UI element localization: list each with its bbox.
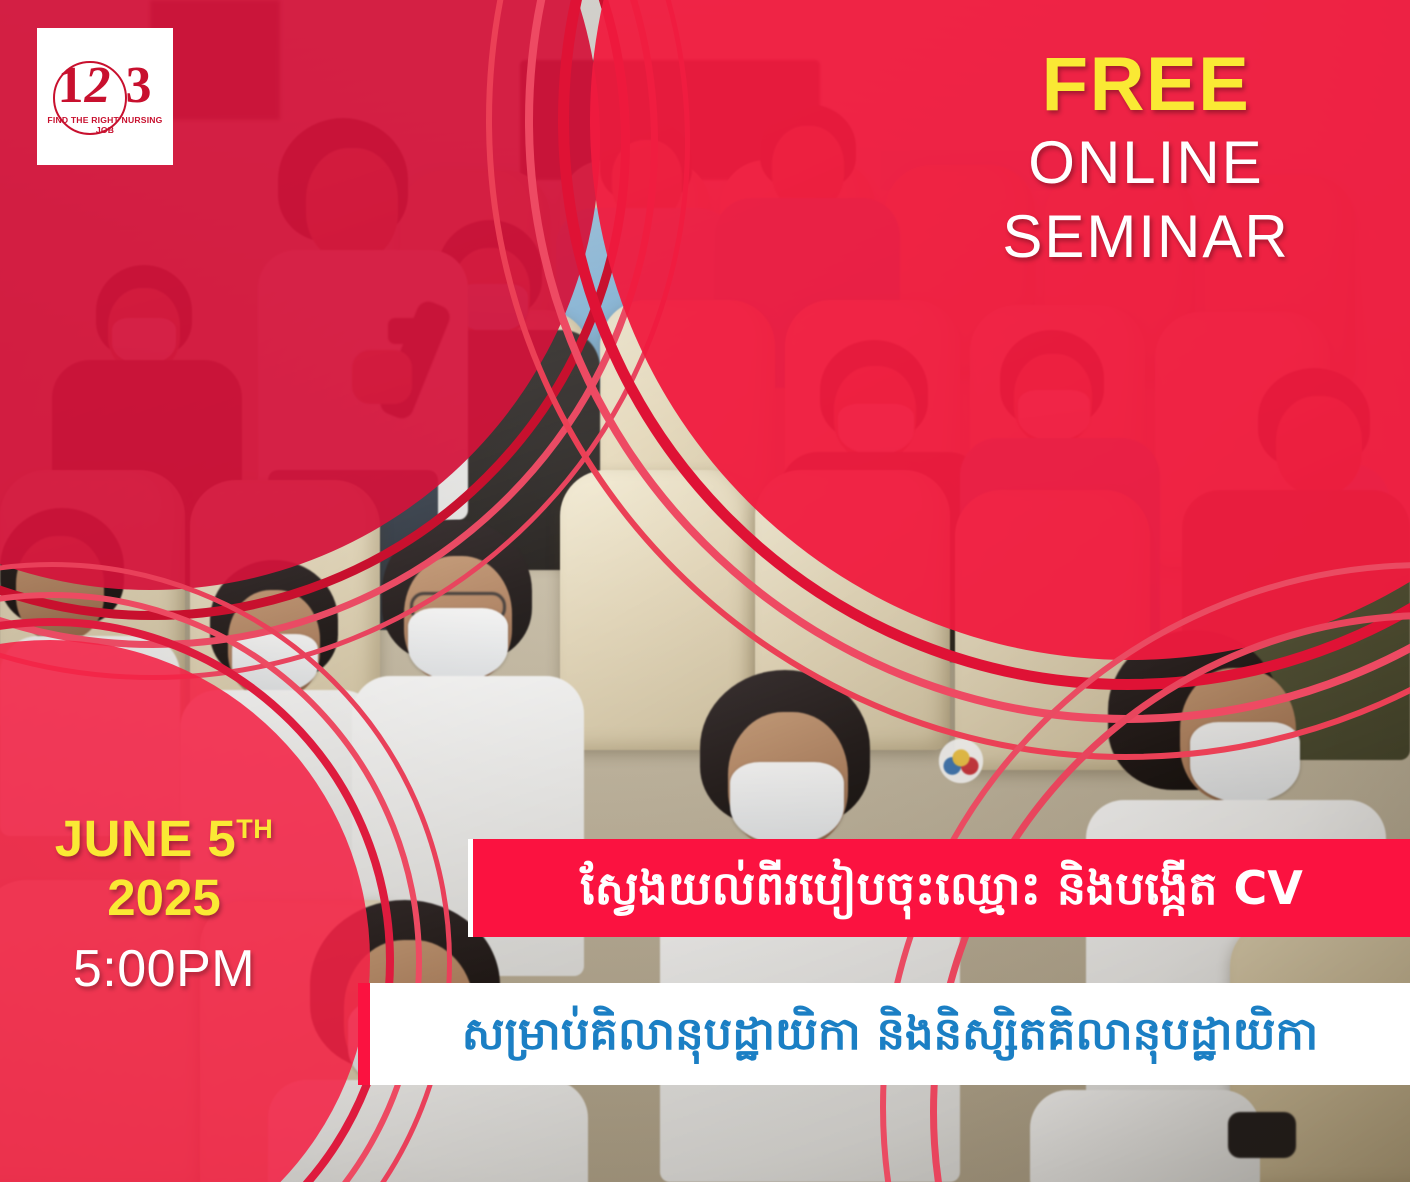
free-label: FREE (946, 44, 1346, 126)
brand-logo[interactable]: 12 3 FIND THE RIGHT NURSING JOB (37, 28, 173, 165)
logo-inner: 12 3 FIND THE RIGHT NURSING JOB (43, 49, 167, 145)
logo-tagline: FIND THE RIGHT NURSING JOB (43, 115, 167, 135)
date-time: 5:00PM (28, 940, 300, 998)
subline-khmer-text: សម្រាប់គិលានុបដ្ឋាយិកា និងនិស្សិតគិលានុប… (462, 983, 1319, 1085)
subline-banner-wrapper: សម្រាប់គិលានុបដ្ឋាយិកា និងនិស្សិតគិលានុប… (358, 983, 1410, 1085)
logo-digits: 12 3 (43, 55, 167, 117)
date-year: 2025 (28, 868, 300, 928)
seminar-headline-block: FREE ONLINE SEMINAR (946, 44, 1346, 274)
date-month-day-text: JUNE 5 (55, 810, 237, 867)
date-badge: JUNE 5TH 2025 5:00PM (28, 800, 300, 998)
date-month-day: JUNE 5TH (28, 800, 300, 868)
logo-digit-1: 1 (58, 57, 85, 114)
headline-khmer-text: ស្វែងយល់ពីរបៀបចុះឈ្មោះ និងបង្កើត CV (580, 839, 1303, 937)
logo-digit-2: 2 (85, 57, 112, 114)
headline-banner: ស្វែងយល់ពីរបៀបចុះឈ្មោះ និងបង្កើត CV (473, 839, 1410, 937)
logo-digit-3: 3 (126, 57, 153, 114)
seminar-poster: 12 3 FIND THE RIGHT NURSING JOB FREE ONL… (0, 0, 1410, 1182)
online-label: ONLINE (946, 126, 1346, 200)
seminar-label: SEMINAR (946, 200, 1346, 274)
subline-banner: សម្រាប់គិលានុបដ្ឋាយិកា និងនិស្សិតគិលានុប… (370, 983, 1410, 1085)
headline-banner-wrapper: ស្វែងយល់ពីរបៀបចុះឈ្មោះ និងបង្កើត CV (468, 839, 1410, 937)
date-ordinal: TH (236, 814, 273, 844)
